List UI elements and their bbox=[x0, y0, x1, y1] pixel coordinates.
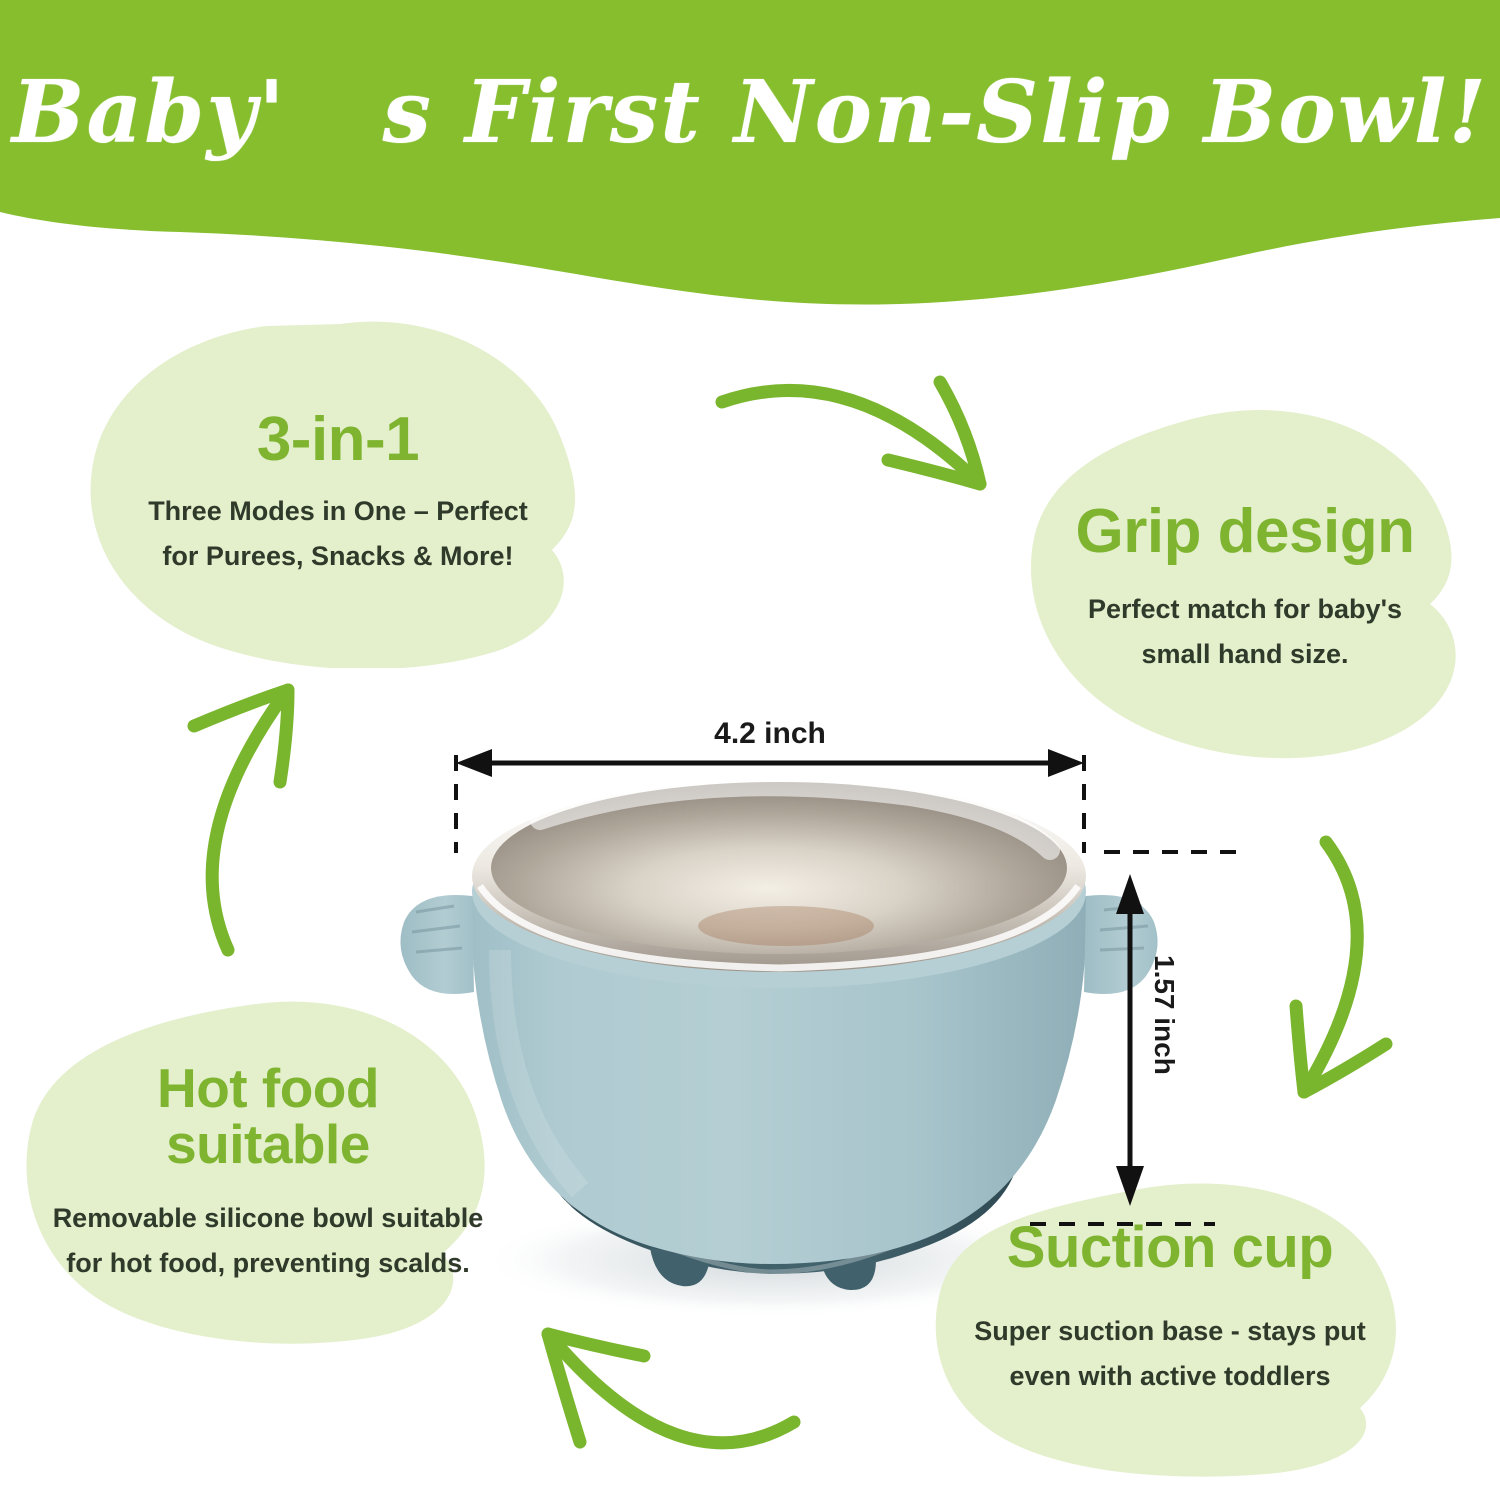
feature-text-hot-food-suitable: Hot food suitable Removable silicone bow… bbox=[18, 1000, 518, 1345]
feature-body-three-in-one: Three Modes in One – Perfect for Purees,… bbox=[148, 489, 528, 578]
product-infographic: 4.2 inch 1.57 inch bbox=[0, 0, 1500, 1500]
arrow-to-suction-cup bbox=[1230, 828, 1480, 1128]
feature-body-line-1: Three Modes in One – Perfect bbox=[148, 489, 528, 534]
feature-body-line-1: Super suction base - stays put bbox=[974, 1309, 1366, 1354]
feature-body-line-2: for Purees, Snacks & More! bbox=[148, 534, 528, 579]
feature-heading-grip-design: Grip design bbox=[1076, 500, 1415, 563]
arrow-to-grip-design bbox=[700, 360, 1020, 520]
feature-body-grip-design: Perfect match for baby's small hand size… bbox=[1088, 587, 1402, 676]
feature-card-hot-food-suitable: Hot food suitable Removable silicone bow… bbox=[18, 1000, 518, 1345]
feature-text-three-in-one: 3-in-1 Three Modes in One – Perfect for … bbox=[78, 318, 598, 668]
arrow-to-three-in-one bbox=[160, 660, 380, 990]
feature-body-line-2: for hot food, preventing scalds. bbox=[53, 1241, 484, 1286]
page-title: Baby' s First Non-Slip Bowl! bbox=[0, 62, 1500, 163]
feature-card-three-in-one: 3-in-1 Three Modes in One – Perfect for … bbox=[78, 318, 598, 668]
feature-body-line-1: Removable silicone bowl suitable bbox=[53, 1196, 484, 1241]
feature-body-line-2: small hand size. bbox=[1088, 632, 1402, 677]
feature-body-suction-cup: Super suction base - stays put even with… bbox=[974, 1309, 1366, 1398]
dimension-height-arrow bbox=[1030, 830, 1250, 1250]
feature-body-line-2: even with active toddlers bbox=[974, 1354, 1366, 1399]
feature-body-line-1: Perfect match for baby's bbox=[1088, 587, 1402, 632]
feature-body-hot-food-suitable: Removable silicone bowl suitable for hot… bbox=[53, 1196, 484, 1285]
feature-heading-hot-food-suitable: Hot food suitable bbox=[157, 1060, 379, 1172]
dimension-width-annotation: 4.2 inch bbox=[430, 705, 1110, 890]
feature-heading-line-1: Hot food bbox=[157, 1060, 379, 1116]
dimension-width-label: 4.2 inch bbox=[430, 717, 1110, 751]
feature-heading-three-in-one: 3-in-1 bbox=[257, 408, 419, 471]
dimension-height-label: 1.57 inch bbox=[1148, 955, 1180, 1075]
dimension-height-annotation: 1.57 inch bbox=[1030, 830, 1250, 1250]
arrow-to-hot-food-suitable bbox=[520, 1300, 840, 1500]
header-banner: Baby' s First Non-Slip Bowl! bbox=[0, 0, 1500, 320]
feature-heading-line-2: suitable bbox=[157, 1116, 379, 1172]
